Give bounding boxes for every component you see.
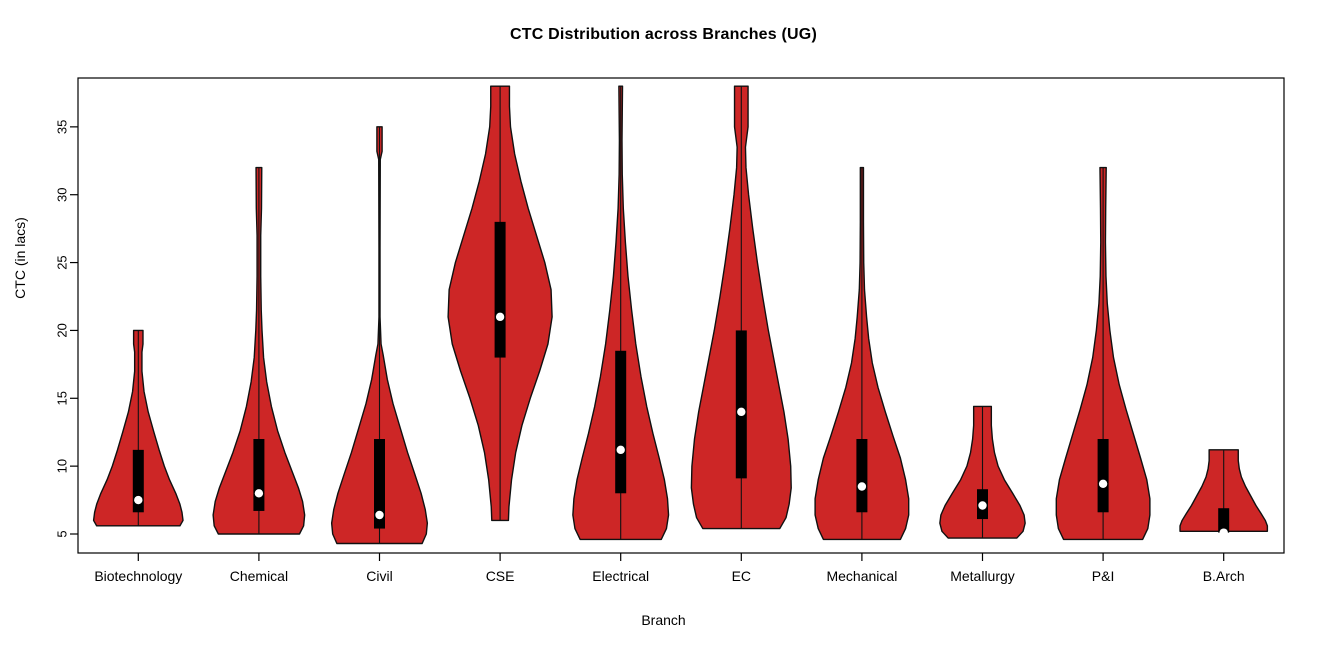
median-dot: [617, 446, 625, 454]
violin-cse: [448, 86, 552, 520]
median-dot: [255, 489, 263, 497]
x-tick-label-metallurgy: Metallurgy: [950, 568, 1015, 584]
y-tick-labels: 5101520253035: [55, 120, 70, 538]
violin-ec: [691, 86, 791, 528]
iqr-box: [495, 222, 506, 358]
violin-electrical: [573, 86, 669, 539]
violin-biotechnology: [94, 330, 183, 525]
median-dot: [858, 482, 866, 490]
violin-p-i: [1056, 168, 1150, 540]
median-dot: [737, 408, 745, 416]
violin-metallurgy: [940, 406, 1025, 538]
median-dot: [375, 511, 383, 519]
violins-layer: [94, 86, 1268, 543]
y-tick-label: 15: [55, 391, 70, 405]
x-tick-label-b-arch: B.Arch: [1203, 568, 1245, 584]
iqr-box: [1098, 439, 1109, 512]
x-tick-label-civil: Civil: [366, 568, 392, 584]
iqr-box: [736, 330, 747, 478]
iqr-box: [615, 351, 626, 494]
median-dot: [134, 496, 142, 504]
violin-b-arch: [1180, 450, 1267, 537]
x-tick-label-chemical: Chemical: [230, 568, 288, 584]
x-tick-labels: BiotechnologyChemicalCivilCSEElectricalE…: [94, 568, 1244, 584]
y-tick-label: 25: [55, 255, 70, 269]
y-tick-label: 35: [55, 120, 70, 134]
violin-chart-figure: CTC Distribution across Branches (UG) CT…: [0, 0, 1327, 653]
y-tick-label: 5: [55, 530, 70, 537]
x-tick-label-p-i: P&I: [1092, 568, 1115, 584]
x-tick-label-ec: EC: [732, 568, 751, 584]
violin-civil: [332, 127, 428, 544]
median-dot: [1220, 528, 1228, 536]
violin-mechanical: [815, 168, 909, 540]
x-tick-label-cse: CSE: [486, 568, 515, 584]
median-dot: [1099, 480, 1107, 488]
violin-plot-canvas: 5101520253035 BiotechnologyChemicalCivil…: [0, 0, 1327, 653]
x-tick-label-biotechnology: Biotechnology: [94, 568, 182, 584]
iqr-box: [856, 439, 867, 512]
x-tick-label-mechanical: Mechanical: [826, 568, 897, 584]
iqr-box: [253, 439, 264, 511]
y-tick-label: 30: [55, 187, 70, 201]
median-dot: [978, 501, 986, 509]
y-tick-label: 10: [55, 459, 70, 473]
violin-chemical: [213, 168, 305, 534]
y-tick-label: 20: [55, 323, 70, 337]
median-dot: [496, 313, 504, 321]
x-tick-label-electrical: Electrical: [592, 568, 649, 584]
